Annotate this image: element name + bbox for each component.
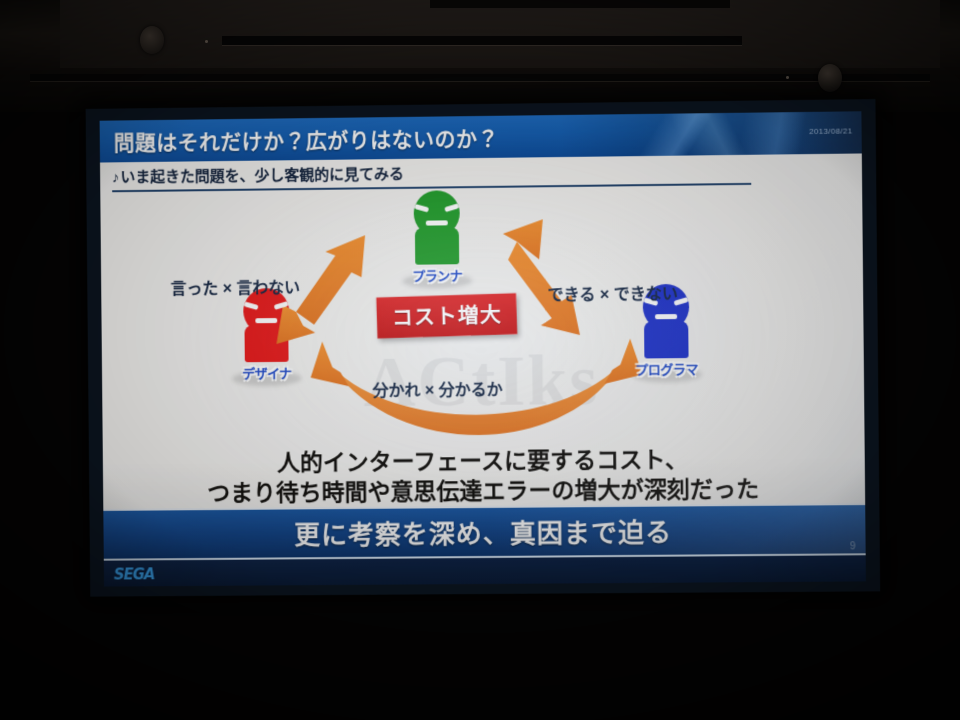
ceiling-slot — [222, 36, 742, 45]
music-note-icon: ♪ — [112, 169, 120, 186]
slide-subtitle-text: いま起きた問題を、少し客観的に見てみる — [120, 166, 404, 186]
ceiling-screw-left — [205, 40, 208, 43]
programmer-label: プログラマ — [620, 359, 713, 379]
cost-increase-label: コスト増大 — [391, 299, 502, 332]
slide-title-bar: 問題はそれだけか？広がりはないのか？ 2013/08/21 — [100, 111, 862, 162]
label-said-not-said: 言った × 言わない — [170, 274, 300, 299]
slide-banner: 更に考察を深め、真因まで迫る — [103, 503, 865, 559]
designer-label: デザイナ — [221, 363, 313, 383]
ceiling-screw-right — [786, 76, 789, 79]
ceiling-light-right — [818, 64, 842, 92]
label-divided-understand: 分かれ × 分かるか — [372, 376, 502, 401]
planner-body — [415, 227, 459, 264]
designer-mouth — [255, 318, 277, 323]
sega-logo: SEGA — [114, 565, 155, 583]
ceiling-light-left — [140, 26, 164, 54]
cost-increase-box: コスト増大 — [376, 293, 517, 338]
slide-date: 2013/08/21 — [809, 126, 852, 136]
programmer-mouth — [655, 314, 677, 319]
designer-body — [244, 325, 288, 362]
projected-slide-photo: 問題はそれだけか？広がりはないのか？ 2013/08/21 ♪いま起きた問題を、… — [0, 0, 960, 720]
conclusion-paragraph: 人的インターフェースに要するコスト、 つまり待ち時間や意思伝達エラーの増大が深刻… — [103, 443, 865, 510]
slide-footer: SEGA 9 — [104, 553, 866, 586]
slide-title: 問題はそれだけか？広がりはないのか？ — [114, 123, 500, 158]
ceiling-structure — [0, 0, 960, 112]
designer-figure — [237, 288, 295, 362]
planner-label: プランナ — [391, 265, 483, 285]
person-planner: プランナ — [391, 190, 484, 285]
person-designer: デザイナ — [220, 288, 312, 383]
page-number: 9 — [850, 541, 856, 552]
projection-screen: 問題はそれだけか？広がりはないのか？ 2013/08/21 ♪いま起きた問題を、… — [86, 99, 881, 597]
planner-figure — [408, 190, 467, 265]
slide-content: 問題はそれだけか？広がりはないのか？ 2013/08/21 ♪いま起きた問題を、… — [100, 111, 866, 558]
ceiling-slot-lower — [30, 74, 930, 81]
planner-mouth — [426, 220, 448, 225]
label-can-cannot: できる × できない — [547, 280, 678, 305]
programmer-body — [644, 321, 689, 359]
ceiling-panel-left — [60, 0, 940, 68]
slide-banner-text: 更に考察を深め、真因まで迫る — [294, 512, 672, 552]
ceiling-panel-dark — [430, 0, 730, 8]
